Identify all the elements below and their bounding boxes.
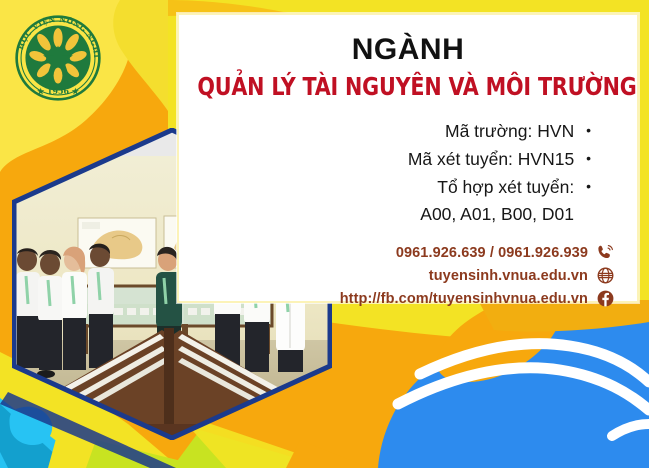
contact-row-website[interactable]: tuyensinh.vnua.edu.vn (235, 264, 615, 287)
admission-info-block: Mã trường: HVN • Mã xét tuyển: HVN15 • T… (261, 117, 591, 228)
globe-icon (596, 266, 615, 285)
info-line-admission-code: Mã xét tuyển: HVN15 • (261, 145, 591, 173)
major-title: QUẢN LÝ TÀI NGUYÊN VÀ MÔI TRƯỜNG (197, 72, 618, 101)
info-line-subject-combos: Tổ hợp xét tuyển: • (261, 173, 591, 201)
poster-canvas: HỌC VIỆN NÔNG NGHIỆP VIỆT NAM ★ 1956 ★ (0, 0, 649, 468)
contact-block: 0961.926.639 / 0961.926.939 tuyensinh.vn… (235, 241, 615, 310)
bullet-icon-3: • (586, 173, 591, 200)
person-3 (62, 247, 87, 370)
bullet-icon-1: • (586, 117, 591, 144)
contact-facebook-text: http://fb.com/tuyensinhvnua.edu.vn (340, 291, 588, 307)
contact-phone-text: 0961.926.639 / 0961.926.939 (396, 245, 588, 261)
phone-icon (596, 243, 615, 262)
contact-row-facebook[interactable]: http://fb.com/tuyensinhvnua.edu.vn (235, 287, 615, 310)
info-label-admission-code: Mã xét tuyển: (408, 149, 513, 169)
logo-emblem: HỌC VIỆN NÔNG NGHIỆP VIỆT NAM ★ 1956 ★ (14, 14, 102, 102)
info-label-school-code: Mã trường: (445, 121, 532, 141)
info-line-school-code: Mã trường: HVN • (261, 117, 591, 145)
info-label-subject-combos: Tổ hợp xét tuyển: (437, 177, 574, 197)
contact-website-text: tuyensinh.vnua.edu.vn (429, 268, 588, 284)
card-eyebrow: NGÀNH (179, 33, 637, 67)
subject-combinations: A00, A01, B00, D01 (261, 201, 591, 228)
info-value-school-code: HVN (537, 121, 574, 141)
wall-map-1 (78, 218, 156, 268)
contact-row-phone[interactable]: 0961.926.639 / 0961.926.939 (235, 241, 615, 264)
info-value-admission-code: HVN15 (518, 149, 574, 169)
info-card: NGÀNH QUẢN LÝ TÀI NGUYÊN VÀ MÔI TRƯỜNG M… (177, 13, 639, 303)
bullet-icon-2: • (586, 145, 591, 172)
logo-year: ★ 1956 ★ (37, 87, 80, 96)
facebook-icon (596, 289, 615, 308)
institution-logo: HỌC VIỆN NÔNG NGHIỆP VIỆT NAM ★ 1956 ★ (14, 14, 102, 102)
